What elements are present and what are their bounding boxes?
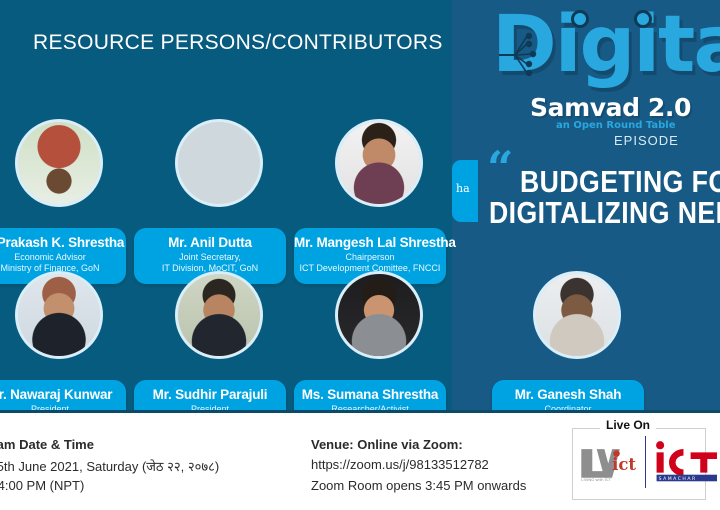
speaker-name: Mr. Ganesh Shah <box>492 387 644 402</box>
ict-samachar-logo-icon: SAMACHAR <box>652 438 718 486</box>
avatar <box>335 119 423 207</box>
episode-title-line2: DIGITALIZING NEPAL <box>489 195 720 231</box>
side-tab: ha <box>452 160 478 222</box>
partner-divider <box>645 436 646 488</box>
footer-divider <box>0 410 720 413</box>
venue-zoom-link[interactable]: https://zoom.us/j/98133512782 <box>311 457 489 472</box>
quote-mark-icon: “ <box>487 148 513 188</box>
logo-dot-i-icon <box>571 10 589 28</box>
speaker-name: Ms. Sumana Shrestha <box>294 387 446 402</box>
avatar <box>15 271 103 359</box>
lwict-logo-icon: ict LIVING with ICT <box>578 444 644 484</box>
side-tab-label: ha <box>456 182 470 195</box>
speaker-name: Mr. Mangesh Lal Shrestha <box>294 235 446 250</box>
brand-subtitle: Samvad 2.0 <box>530 93 691 122</box>
speaker-name: Mr. Anil Dutta <box>134 235 286 250</box>
speaker-role: Economic Advisor <box>0 252 126 262</box>
brand-tagline: an Open Round Table <box>556 120 676 131</box>
program-time-value: Time: 4:00 PM (NPT) <box>0 478 84 493</box>
speaker-name: Mr. Sudhir Parajuli <box>134 387 286 402</box>
program-date-heading: Program Date & Time <box>0 437 94 452</box>
page-title: RESOURCE PERSONS/CONTRIBUTORS <box>33 31 443 55</box>
live-on-label: Live On <box>600 418 656 432</box>
brand-logo: Digital <box>470 6 720 106</box>
svg-text:ict: ict <box>612 455 636 474</box>
venue-note: Zoom Room opens 3:45 PM onwards <box>311 478 526 493</box>
svg-text:LIVING with ICT: LIVING with ICT <box>581 477 611 482</box>
avatar <box>175 119 263 207</box>
episode-label: EPISODE <box>614 133 679 148</box>
avatar <box>15 119 103 207</box>
speaker-name: Mr. Nawaraj Kunwar <box>0 387 126 402</box>
speaker-role: Chairperson <box>294 252 446 262</box>
speaker-role: Joint Secretary, <box>134 252 286 262</box>
program-date-value: Date: 5th June 2021, Saturday (जेठ २२, २… <box>0 457 219 475</box>
poster-canvas: RESOURCE PERSONS/CONTRIBUTORS Digital Sa… <box>0 0 720 510</box>
venue-heading: Venue: Online via Zoom: <box>311 437 463 452</box>
avatar <box>175 271 263 359</box>
avatar <box>533 271 621 359</box>
speaker-name: Dr. Prakash K. Shrestha <box>0 235 126 250</box>
svg-text:SAMACHAR: SAMACHAR <box>659 476 697 482</box>
avatar <box>335 271 423 359</box>
circuit-lines-icon <box>497 30 543 80</box>
logo-dot-t-icon <box>634 10 652 28</box>
